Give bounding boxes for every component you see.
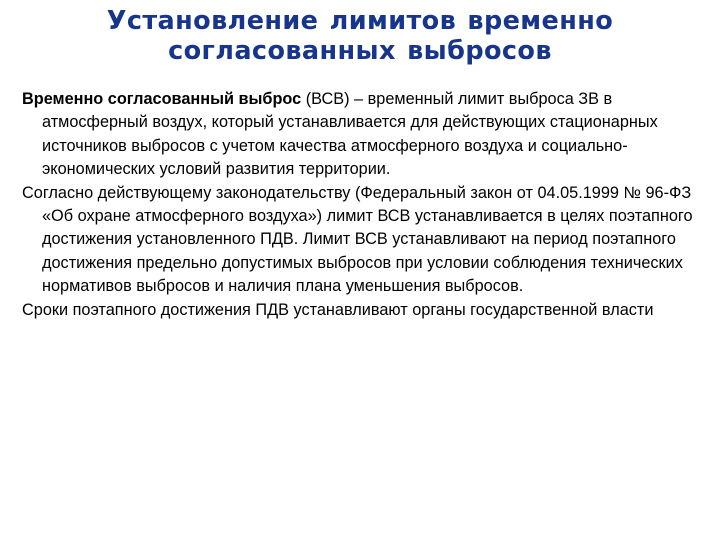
paragraph-2: Согласно действующему законодательству (… (22, 182, 698, 299)
slide-canvas: Установление лимитов временно согласован… (0, 0, 720, 540)
paragraph-1-lead: Временно согласованный выброс (22, 90, 301, 108)
slide-body: Временно согласованный выброс (ВСВ) – вр… (22, 88, 698, 322)
page-title: Установление лимитов временно согласован… (8, 6, 712, 66)
paragraph-1: Временно согласованный выброс (ВСВ) – вр… (22, 88, 698, 182)
paragraph-3-text: Сроки поэтапного достижения ПДВ устанавл… (22, 301, 653, 319)
paragraph-3: Сроки поэтапного достижения ПДВ устанавл… (22, 299, 698, 322)
paragraph-2-text: Согласно действующему законодательству (… (22, 184, 693, 296)
